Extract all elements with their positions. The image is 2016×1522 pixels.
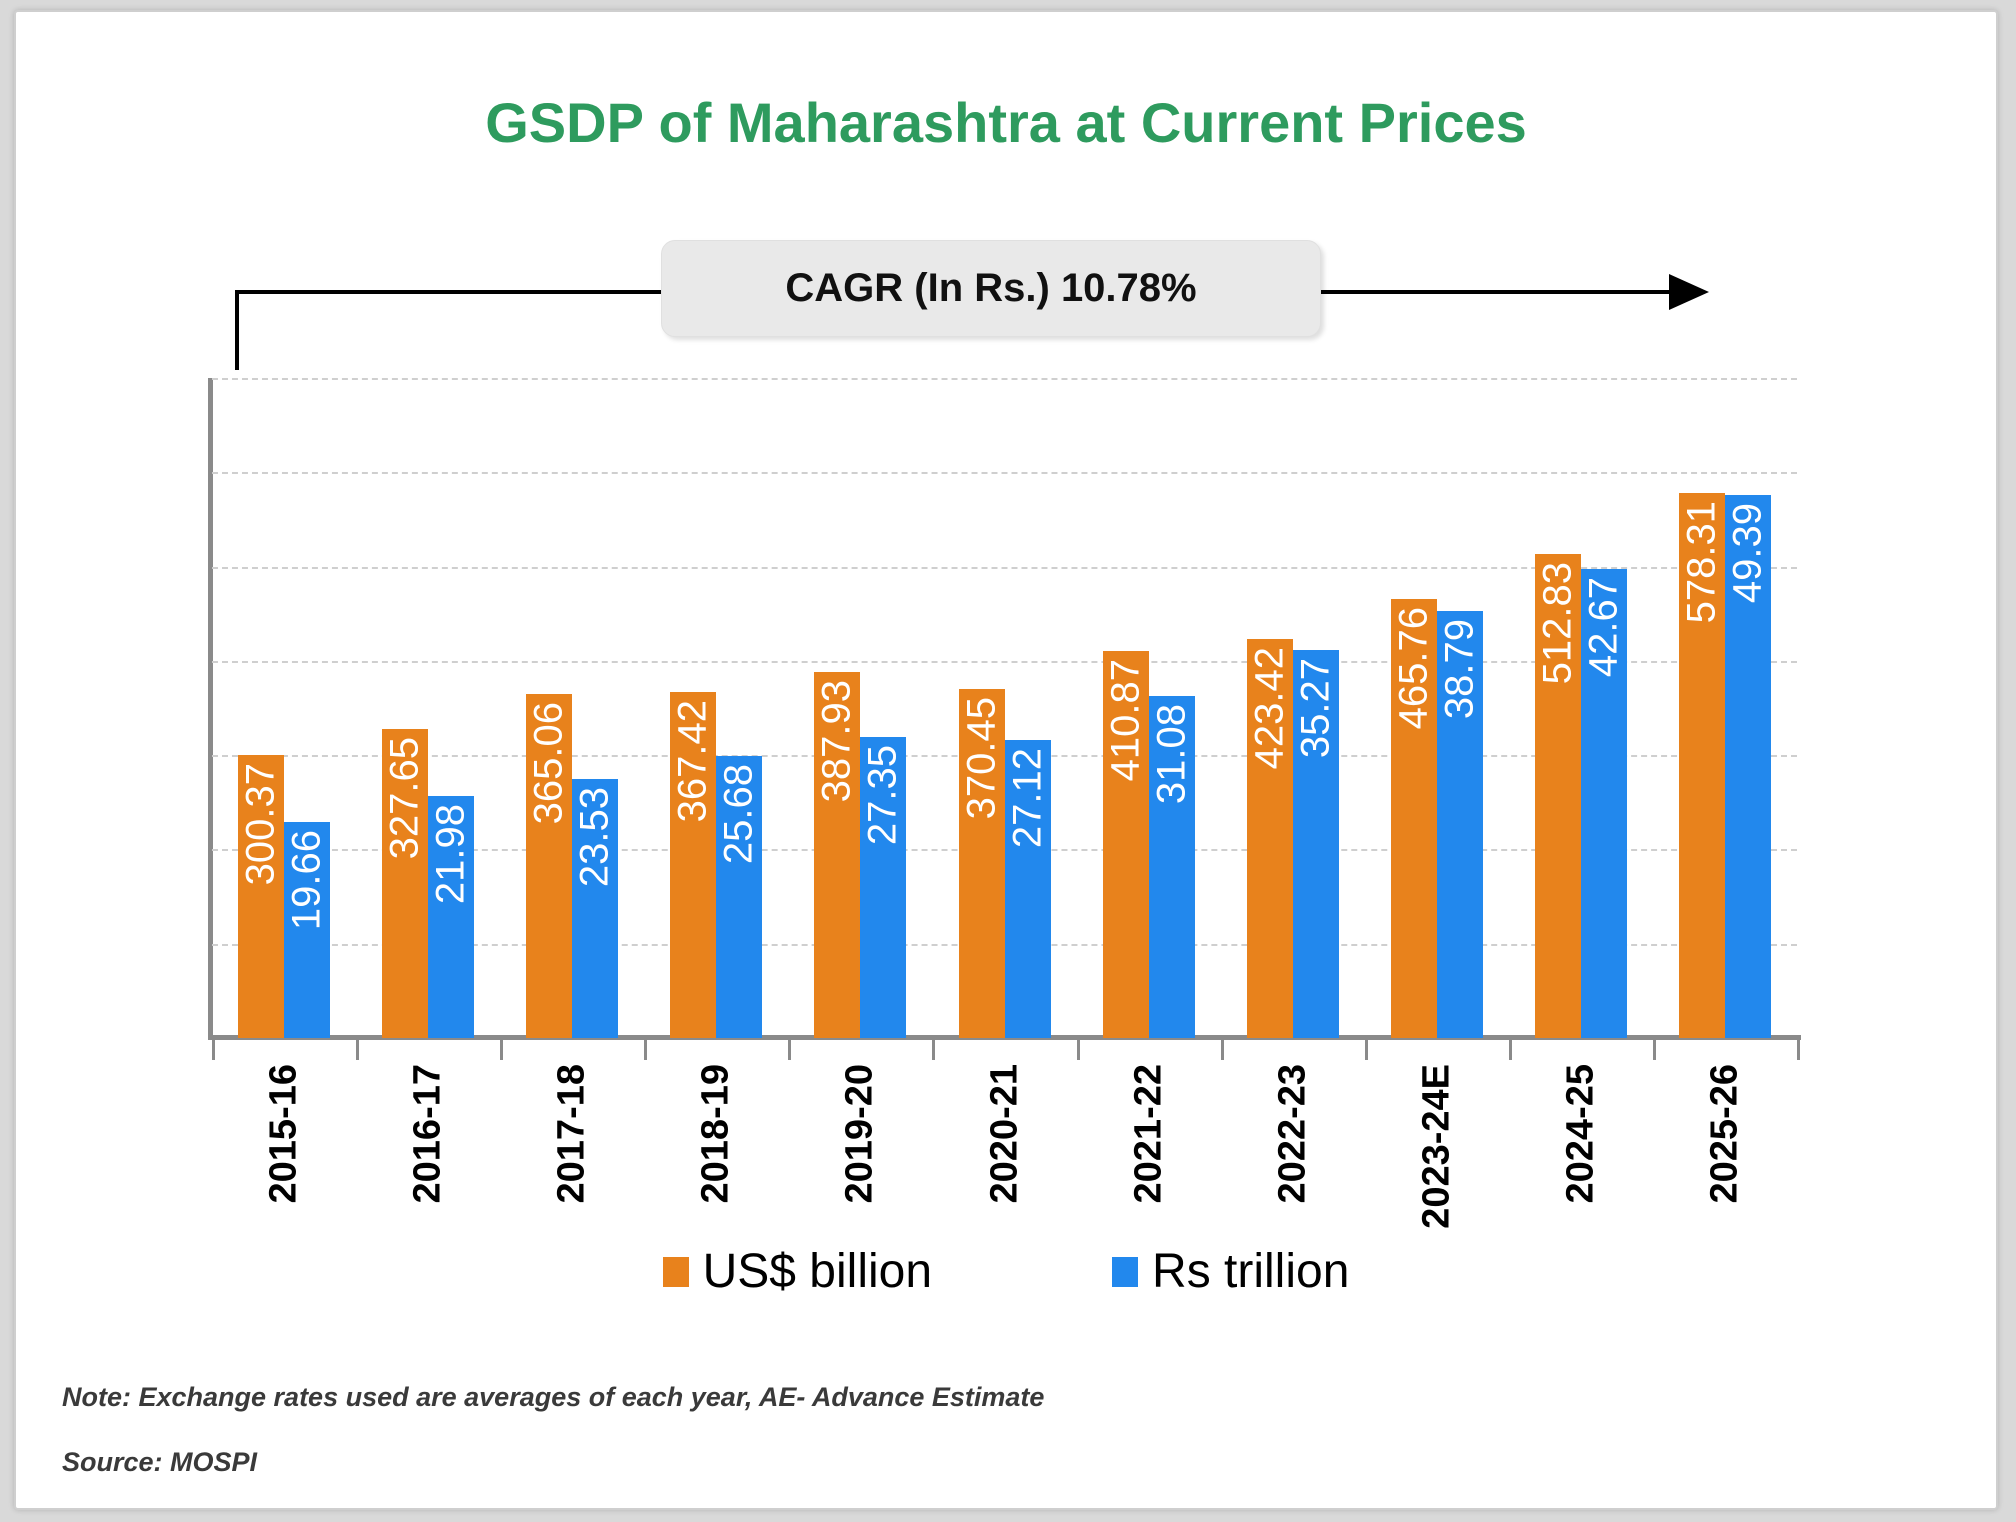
bar-value-label: 410.87 (1103, 659, 1148, 781)
x-axis-tick (1077, 1038, 1080, 1060)
x-axis-tick (356, 1038, 359, 1060)
bar-group: 512.8342.67 (1509, 378, 1653, 1038)
x-axis-tick (1221, 1038, 1224, 1060)
x-axis-category-label: 2020-21 (983, 1064, 1026, 1203)
bar-rs-trillion[interactable]: 42.67 (1581, 569, 1627, 1038)
x-axis-category-label: 2017-18 (551, 1064, 594, 1203)
chart-legend: US$ billionRs trillion (16, 1244, 1996, 1299)
bar-value-label: 387.93 (815, 680, 860, 802)
bar-value-label: 370.45 (959, 697, 1004, 819)
bar-group: 410.8731.08 (1077, 378, 1221, 1038)
x-axis-category-label: 2023-24E (1415, 1064, 1458, 1229)
x-axis-tick (644, 1038, 647, 1060)
bar-value-label: 21.98 (429, 804, 474, 904)
legend-label: Rs trillion (1152, 1244, 1349, 1299)
cagr-label: CAGR (In Rs.) 10.78% (785, 266, 1196, 311)
bar-rs-trillion[interactable]: 23.53 (572, 779, 618, 1038)
legend-swatch-usd-icon (663, 1257, 689, 1287)
x-axis-category: 2019-20 (788, 1064, 932, 1234)
x-axis-category: 2017-18 (500, 1064, 644, 1234)
bar-rs-trillion[interactable]: 49.39 (1725, 495, 1771, 1038)
x-axis-category-label: 2022-23 (1271, 1064, 1314, 1203)
footnotes: Note: Exchange rates used are averages o… (62, 1382, 1044, 1512)
bar-usd-billion[interactable]: 410.87 (1103, 651, 1149, 1038)
bar-rs-trillion[interactable]: 21.98 (428, 796, 474, 1038)
bar-group: 387.9327.35 (788, 378, 932, 1038)
bar-usd-billion[interactable]: 367.42 (670, 692, 716, 1038)
x-axis-tick (1365, 1038, 1368, 1060)
x-axis-tick (1509, 1038, 1512, 1060)
bar-value-label: 38.79 (1437, 619, 1482, 719)
bar-groups: 300.3719.66327.6521.98365.0623.53367.422… (212, 378, 1797, 1038)
x-axis-category-label: 2019-20 (839, 1064, 882, 1203)
bar-rs-trillion[interactable]: 31.08 (1149, 696, 1195, 1038)
x-axis-tick (788, 1038, 791, 1060)
x-axis-category-labels: 2015-162016-172017-182018-192019-202020-… (212, 1064, 1797, 1234)
bar-group: 423.4235.27 (1221, 378, 1365, 1038)
bar-rs-trillion[interactable]: 19.66 (284, 822, 330, 1038)
bar-value-label: 465.76 (1391, 607, 1436, 729)
source-text: Source: MOSPI (62, 1447, 1044, 1478)
bar-group: 327.6521.98 (356, 378, 500, 1038)
plot-area: 700.0600.0500.0400.0300.0200.0100.00.0 6… (212, 378, 1797, 1038)
bar-usd-billion[interactable]: 423.42 (1247, 639, 1293, 1038)
legend-label: US$ billion (703, 1244, 932, 1299)
x-axis-tick (1797, 1038, 1800, 1060)
x-axis-tick (500, 1038, 503, 1060)
bar-usd-billion[interactable]: 327.65 (382, 729, 428, 1038)
x-axis-tick (1653, 1038, 1656, 1060)
bar-usd-billion[interactable]: 300.37 (238, 755, 284, 1038)
x-axis-category-label: 2024-25 (1559, 1064, 1602, 1203)
bar-usd-billion[interactable]: 512.83 (1535, 554, 1581, 1038)
bar-value-label: 423.42 (1247, 647, 1292, 769)
bar-group: 300.3719.66 (212, 378, 356, 1038)
bar-rs-trillion[interactable]: 35.27 (1293, 650, 1339, 1038)
bar-value-label: 31.08 (1149, 704, 1194, 804)
bar-group: 365.0623.53 (500, 378, 644, 1038)
x-axis-category: 2025-26 (1653, 1064, 1797, 1234)
bar-value-label: 578.31 (1679, 501, 1724, 623)
x-axis-tick (932, 1038, 935, 1060)
bar-value-label: 365.06 (527, 702, 572, 824)
cagr-annotation-box: CAGR (In Rs.) 10.78% (661, 240, 1321, 337)
x-axis-category: 2021-22 (1077, 1064, 1221, 1234)
bar-group: 370.4527.12 (932, 378, 1076, 1038)
x-axis-category: 2020-21 (932, 1064, 1076, 1234)
bar-usd-billion[interactable]: 365.06 (526, 694, 572, 1038)
bar-rs-trillion[interactable]: 25.68 (716, 756, 762, 1038)
note-text: Note: Exchange rates used are averages o… (62, 1382, 1044, 1413)
bar-value-label: 27.12 (1005, 748, 1050, 848)
x-axis-category-label: 2021-22 (1127, 1064, 1170, 1203)
x-axis-category: 2016-17 (356, 1064, 500, 1234)
bar-usd-billion[interactable]: 578.31 (1679, 493, 1725, 1038)
x-axis-category-label: 2018-19 (695, 1064, 738, 1203)
bar-usd-billion[interactable]: 465.76 (1391, 599, 1437, 1038)
legend-item[interactable]: Rs trillion (1112, 1244, 1349, 1299)
x-axis-category: 2023-24E (1365, 1064, 1509, 1234)
bar-value-label: 300.37 (239, 763, 284, 885)
bar-value-label: 25.68 (717, 764, 762, 864)
bar-usd-billion[interactable]: 387.93 (814, 672, 860, 1038)
bar-usd-billion[interactable]: 370.45 (959, 689, 1005, 1038)
bar-value-label: 35.27 (1293, 658, 1338, 758)
legend-swatch-rs-icon (1112, 1257, 1138, 1287)
bar-value-label: 19.66 (285, 830, 330, 930)
x-axis-category: 2018-19 (644, 1064, 788, 1234)
bar-group: 578.3149.39 (1653, 378, 1797, 1038)
x-axis-category-label: 2015-16 (263, 1064, 306, 1203)
bar-rs-trillion[interactable]: 38.79 (1437, 611, 1483, 1038)
legend-item[interactable]: US$ billion (663, 1244, 932, 1299)
x-axis-tick (212, 1038, 215, 1060)
bar-value-label: 27.35 (861, 745, 906, 845)
bar-value-label: 23.53 (573, 787, 618, 887)
chart-figure: GSDP of Maharashtra at Current Prices CA… (14, 10, 1998, 1510)
bar-group: 465.7638.79 (1365, 378, 1509, 1038)
x-axis-category: 2024-25 (1509, 1064, 1653, 1234)
x-axis-category: 2022-23 (1221, 1064, 1365, 1234)
page-title: GSDP of Maharashtra at Current Prices (16, 90, 1996, 155)
bar-rs-trillion[interactable]: 27.35 (860, 737, 906, 1038)
bar-value-label: 367.42 (671, 700, 716, 822)
bar-value-label: 42.67 (1581, 577, 1626, 677)
bar-value-label: 49.39 (1725, 503, 1770, 603)
bar-value-label: 512.83 (1535, 562, 1580, 684)
bar-rs-trillion[interactable]: 27.12 (1005, 740, 1051, 1038)
bar-value-label: 327.65 (383, 737, 428, 859)
bar-group: 367.4225.68 (644, 378, 788, 1038)
x-axis-category-label: 2025-26 (1703, 1064, 1746, 1203)
x-axis-category-label: 2016-17 (407, 1064, 450, 1203)
x-axis-category: 2015-16 (212, 1064, 356, 1234)
